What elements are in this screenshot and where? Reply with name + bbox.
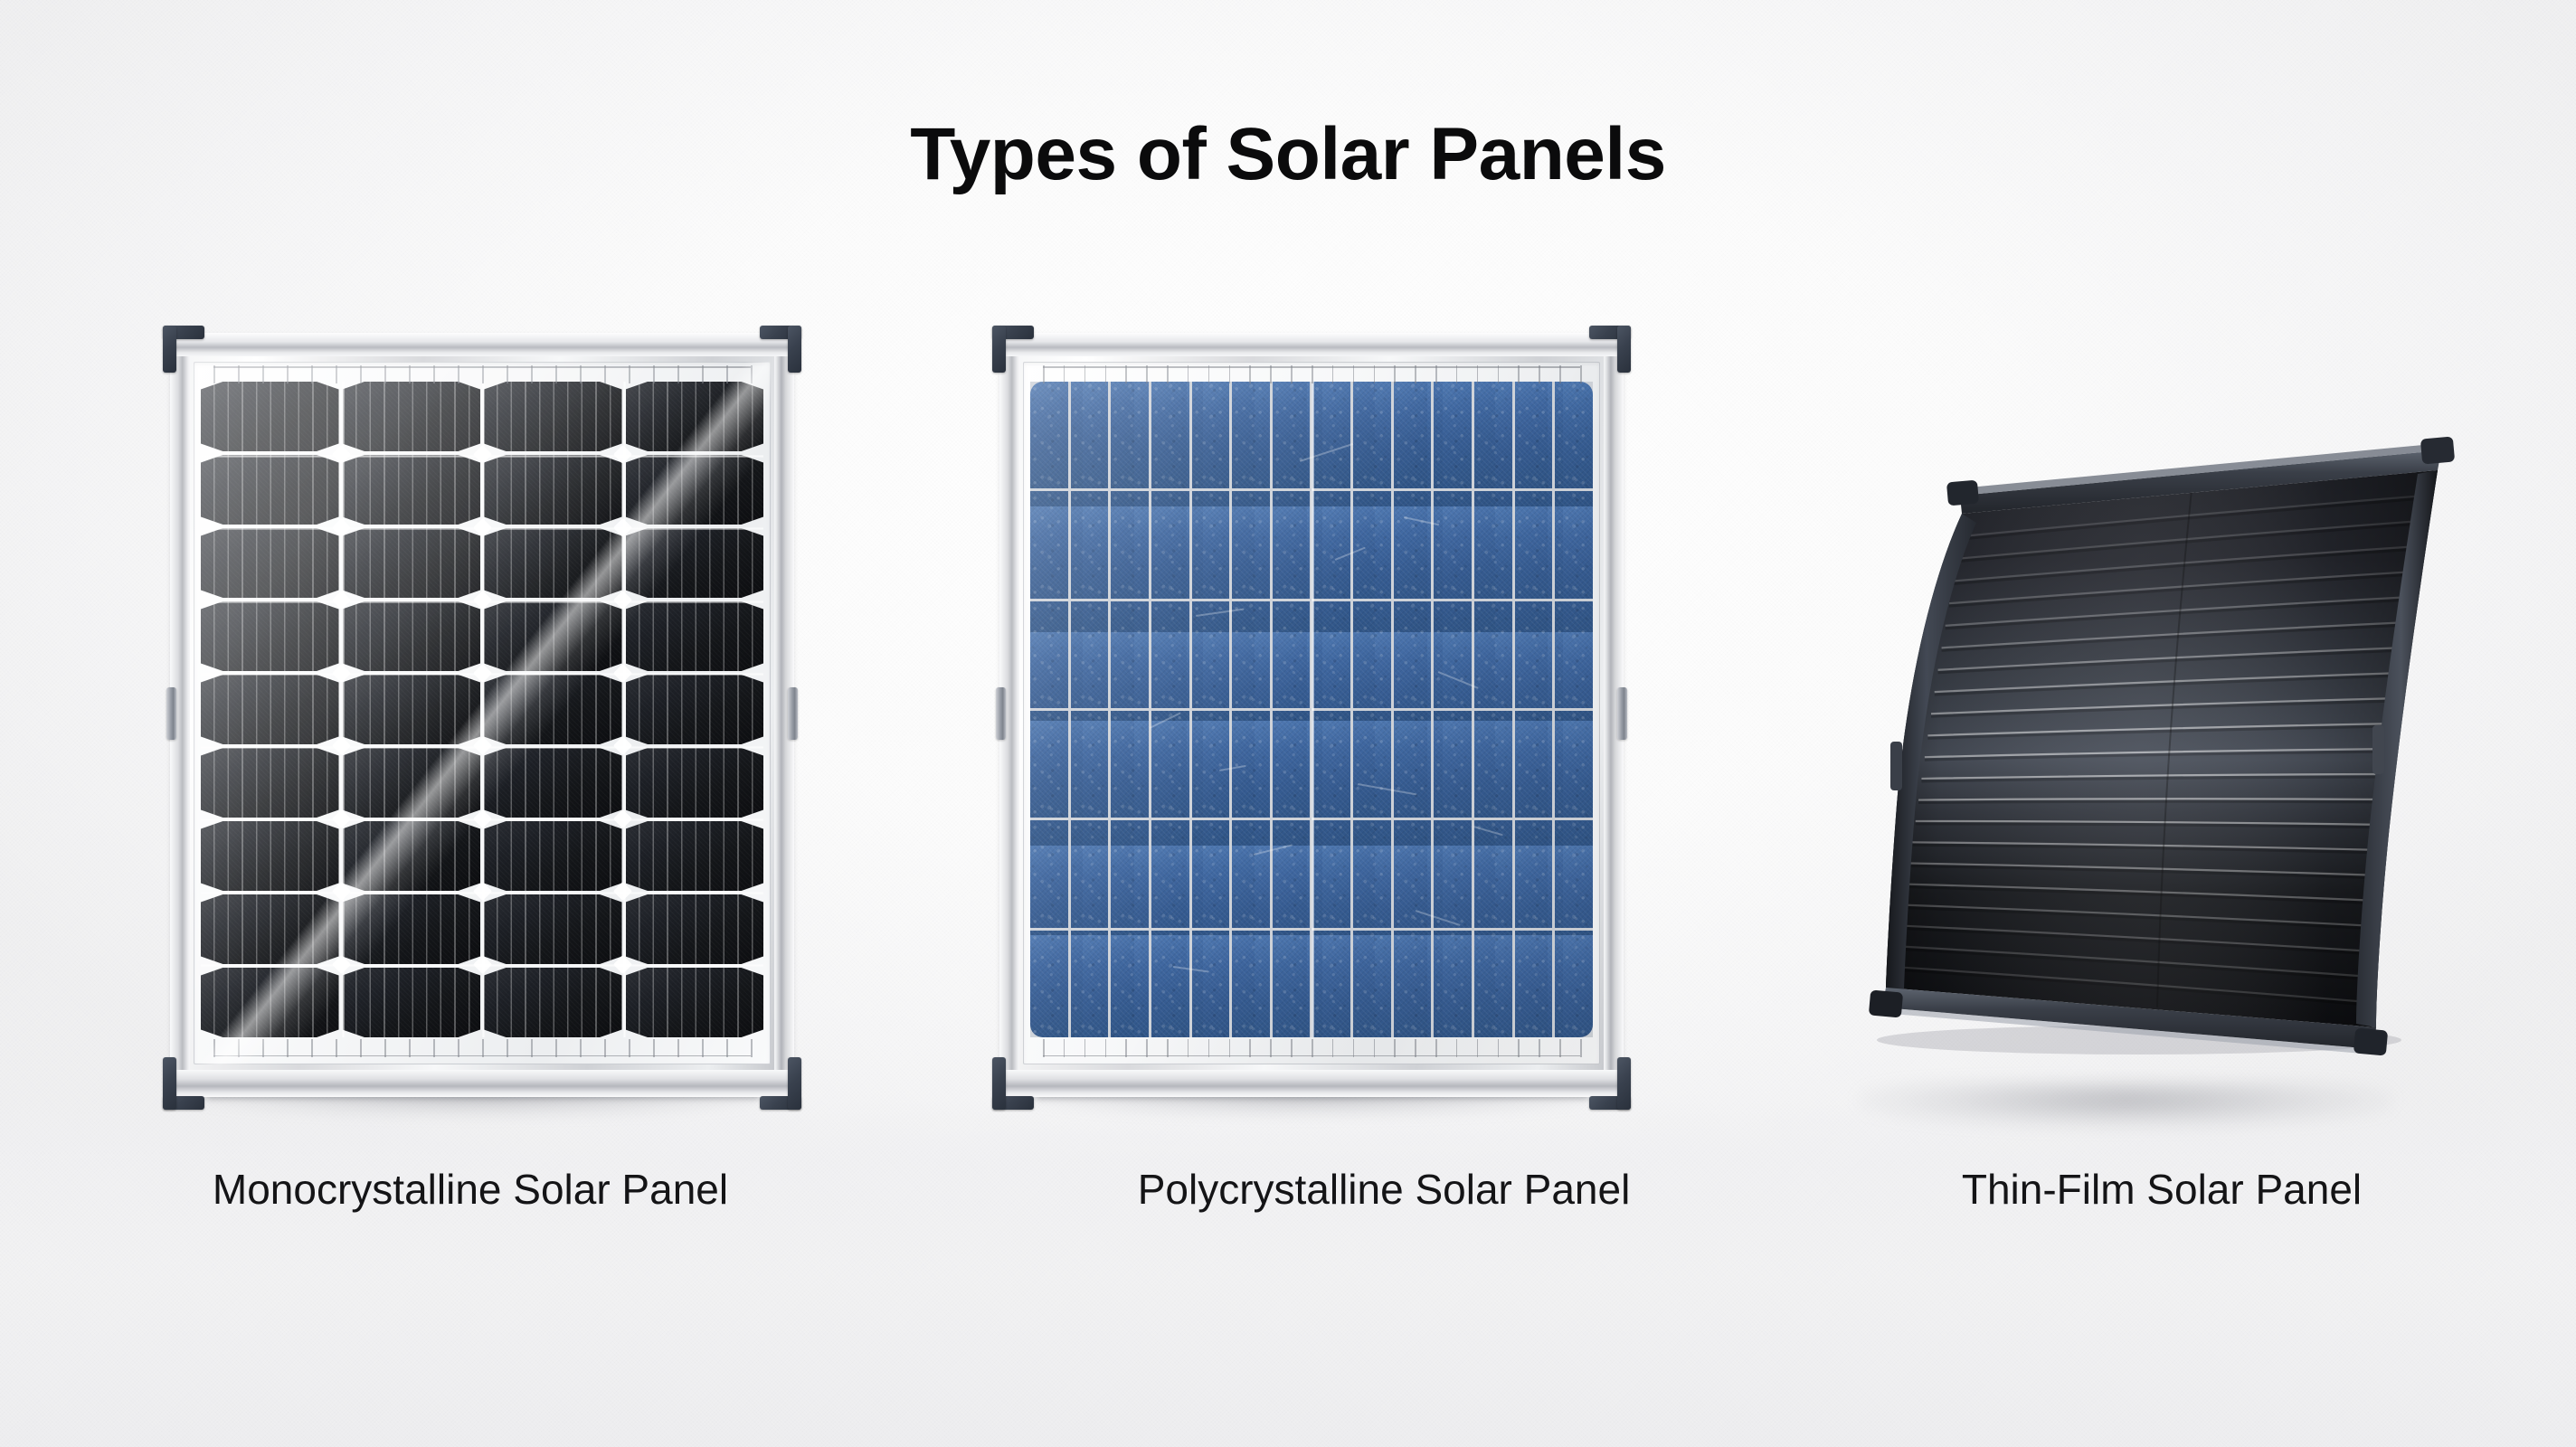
caption-polycrystalline: Polycrystalline Solar Panel [914, 1168, 1854, 1210]
solar-cell [1434, 491, 1472, 598]
thin-film-svg [1768, 326, 2483, 1140]
solar-cell [1394, 601, 1432, 708]
solar-cell [1273, 711, 1311, 818]
solar-cell [484, 748, 622, 818]
corner-bracket-icon [163, 326, 204, 373]
solar-cell [1030, 820, 1068, 927]
solar-cell [1151, 601, 1189, 708]
solar-cell [1474, 711, 1512, 818]
solar-cell-row [1030, 601, 1593, 708]
solar-cell [1071, 601, 1109, 708]
corner-bracket-icon [760, 1057, 801, 1110]
solar-cell [1111, 491, 1149, 598]
solar-cell-grid [201, 382, 763, 1037]
solar-cell-row [1030, 820, 1593, 927]
solar-cell [1192, 382, 1230, 488]
solar-cell [1232, 601, 1270, 708]
panel-ground-shadow [1859, 1082, 2392, 1129]
solar-cell [1312, 382, 1350, 488]
frame-bottom-rail [170, 1070, 794, 1097]
solar-cell [1192, 820, 1230, 927]
solar-cell [201, 821, 339, 891]
solar-cell [1151, 820, 1189, 927]
solar-cell [1030, 931, 1068, 1037]
solar-cell [1273, 601, 1311, 708]
solar-cell [1394, 820, 1432, 927]
solar-cell [484, 528, 622, 598]
solar-cell [1515, 820, 1553, 927]
solar-cell [1192, 711, 1230, 818]
solar-cell [484, 601, 622, 671]
solar-cell [1151, 491, 1189, 598]
solar-cell [1555, 820, 1593, 927]
solar-cell [1555, 931, 1593, 1037]
solar-cell [1111, 382, 1149, 488]
solar-cell [484, 894, 622, 964]
corner-bracket-icon [1869, 989, 1903, 1017]
solar-cell [1192, 931, 1230, 1037]
corner-bracket-icon [1589, 1057, 1631, 1110]
solar-cell [1434, 382, 1472, 488]
polycrystalline-panel[interactable] [999, 333, 1624, 1097]
solar-cell [1273, 820, 1311, 927]
laminate-backsheet [1023, 362, 1600, 1064]
solar-cell [484, 455, 622, 525]
solar-cell [1474, 491, 1512, 598]
solar-cell [343, 968, 481, 1037]
solar-cell [1312, 601, 1350, 708]
solar-cell-row [1030, 491, 1593, 598]
solar-cell [626, 455, 764, 525]
solar-cell [484, 968, 622, 1037]
mount-clip-icon [1890, 742, 1902, 790]
mount-clip-icon [2372, 725, 2384, 774]
solar-cell [201, 455, 339, 525]
solar-cell [1071, 711, 1109, 818]
solar-cell [1273, 931, 1311, 1037]
solar-cell [1555, 491, 1593, 598]
solar-cell [343, 382, 481, 451]
solar-cell [343, 748, 481, 818]
solar-cell [1515, 931, 1553, 1037]
solar-cell [626, 382, 764, 451]
solar-cell-row [1030, 711, 1593, 818]
solar-cell [1192, 491, 1230, 598]
solar-cell [626, 968, 764, 1037]
solar-cell [1394, 711, 1432, 818]
solar-cell [1192, 601, 1230, 708]
solar-cell [1151, 931, 1189, 1037]
solar-cell [1071, 491, 1109, 598]
caption-monocrystalline: Monocrystalline Solar Panel [0, 1168, 941, 1210]
solar-cell [1394, 491, 1432, 598]
solar-cell [201, 601, 339, 671]
solar-cell [1151, 711, 1189, 818]
solar-cell [1353, 601, 1391, 708]
solar-cell [1071, 931, 1109, 1037]
corner-bracket-icon [760, 326, 801, 373]
solar-cell [343, 894, 481, 964]
frame-bottom-rail [999, 1070, 1624, 1097]
solar-cell [626, 675, 764, 744]
solar-cell [1030, 711, 1068, 818]
solar-cell [1071, 820, 1109, 927]
solar-cell [201, 748, 339, 818]
solar-cell [1353, 382, 1391, 488]
mount-clip-icon [788, 687, 798, 740]
corner-bracket-icon [2420, 436, 2455, 464]
solar-cell [1312, 820, 1350, 927]
solar-cell [1474, 601, 1512, 708]
top-ribbon-harness [1043, 365, 1580, 383]
solar-cell [626, 821, 764, 891]
solar-cell [1474, 382, 1512, 488]
solar-cell-row [1030, 382, 1593, 488]
thin-film-laminate [1886, 470, 2438, 1027]
solar-cell [1555, 382, 1593, 488]
solar-cell [626, 601, 764, 671]
solar-cell [626, 528, 764, 598]
solar-cell [1434, 931, 1472, 1037]
monocrystalline-panel[interactable] [170, 333, 794, 1097]
solar-cell [1555, 711, 1593, 818]
solar-cell-grid [1030, 382, 1593, 1037]
solar-cell [201, 382, 339, 451]
corner-bracket-icon [992, 326, 1034, 373]
solar-cell [1312, 931, 1350, 1037]
solar-cell [626, 748, 764, 818]
solar-cell [201, 675, 339, 744]
solar-cell [201, 528, 339, 598]
solar-cell [201, 894, 339, 964]
thin-film-panel[interactable] [1768, 326, 2483, 1103]
solar-cell [484, 382, 622, 451]
solar-cell [1515, 491, 1553, 598]
solar-cell [1353, 491, 1391, 598]
corner-bracket-icon [163, 1057, 204, 1110]
solar-cell [1515, 601, 1553, 708]
solar-cell [1232, 711, 1270, 818]
corner-bracket-icon [992, 1057, 1034, 1110]
mount-clip-icon [166, 687, 176, 740]
solar-cell [343, 821, 481, 891]
corner-bracket-icon [1589, 326, 1631, 373]
solar-cell [1474, 931, 1512, 1037]
solar-cell [1232, 820, 1270, 927]
corner-bracket-icon [2353, 1027, 2388, 1055]
solar-cell [1232, 491, 1270, 598]
thin-film-side-shading [1886, 470, 2438, 1027]
floor-gradient [0, 1099, 2576, 1447]
solar-cell [1474, 820, 1512, 927]
solar-cell [484, 821, 622, 891]
solar-cell [1273, 382, 1311, 488]
solar-cell [1353, 711, 1391, 818]
solar-cell-row [1030, 931, 1593, 1037]
bottom-ribbon-harness [213, 1039, 751, 1057]
solar-cell [343, 675, 481, 744]
mount-clip-icon [1617, 687, 1627, 740]
solar-cell [1030, 601, 1068, 708]
top-ribbon-harness [213, 365, 751, 383]
frame-top-rail [170, 333, 794, 356]
solar-cell [1111, 931, 1149, 1037]
solar-cell [1232, 382, 1270, 488]
solar-cell [1111, 601, 1149, 708]
solar-cell [1273, 491, 1311, 598]
solar-cell [1555, 601, 1593, 708]
page-title: Types of Solar Panels [0, 118, 2576, 192]
mount-clip-icon [996, 687, 1006, 740]
solar-cell [1394, 382, 1432, 488]
solar-cell [626, 894, 764, 964]
frame-top-rail [999, 333, 1624, 356]
solar-cell [343, 455, 481, 525]
solar-cell [1151, 382, 1189, 488]
solar-cell [1030, 491, 1068, 598]
solar-cell [1312, 491, 1350, 598]
laminate-backsheet [194, 362, 771, 1064]
solar-cell [1434, 601, 1472, 708]
solar-cell [1394, 931, 1432, 1037]
solar-cell [1071, 382, 1109, 488]
solar-cell [1434, 711, 1472, 818]
solar-cell [1111, 711, 1149, 818]
corner-bracket-icon [1946, 480, 1979, 506]
solar-cell [1232, 931, 1270, 1037]
solar-cell [1030, 382, 1068, 488]
solar-cell [1515, 711, 1553, 818]
solar-cell [484, 675, 622, 744]
solar-cell [1353, 820, 1391, 927]
solar-cell [1434, 820, 1472, 927]
solar-cell [343, 601, 481, 671]
solar-cell [1515, 382, 1553, 488]
caption-thin-film: Thin-Film Solar Panel [1755, 1168, 2569, 1210]
bottom-ribbon-harness [1043, 1039, 1580, 1057]
solar-cell [1312, 711, 1350, 818]
solar-cell [201, 968, 339, 1037]
solar-cell [343, 528, 481, 598]
solar-cell [1111, 820, 1149, 927]
solar-cell [1353, 931, 1391, 1037]
